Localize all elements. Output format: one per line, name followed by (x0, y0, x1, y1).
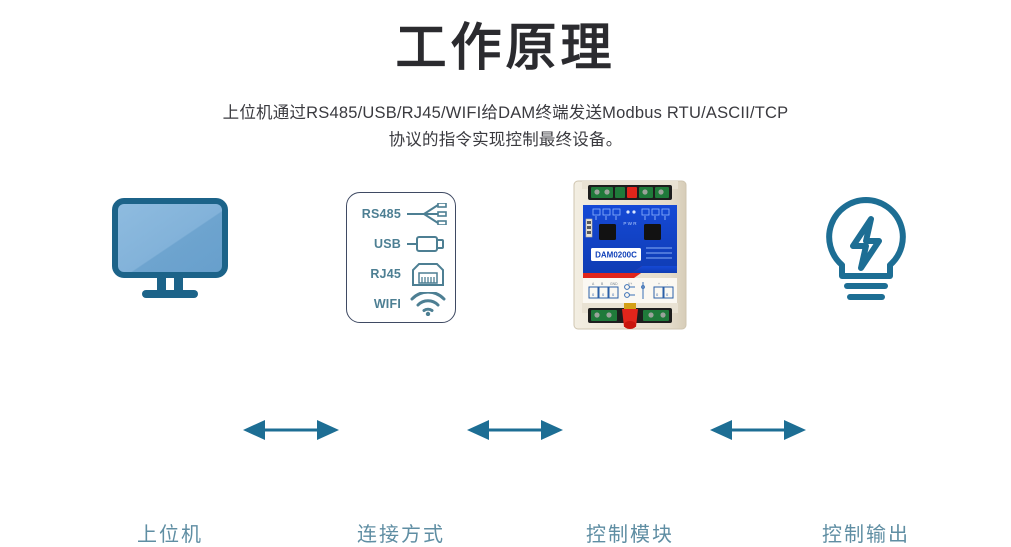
caption-output: 控制输出 (766, 518, 966, 547)
connection-row-usb[interactable]: USB (347, 229, 455, 259)
usb-plug-icon (407, 233, 449, 255)
subtitle-line-1: 上位机通过RS485/USB/RJ45/WIFI给DAM终端发送Modbus R… (0, 100, 1011, 127)
lightbulb-icon (812, 194, 920, 312)
dam-module-icon: P W R DAM0200C (566, 175, 694, 335)
monitor-icon (110, 195, 230, 310)
svg-text:+: + (658, 282, 660, 286)
page-subtitle: 上位机通过RS485/USB/RJ45/WIFI给DAM终端发送Modbus R… (0, 100, 1011, 154)
connection-label-wifi: WIFI (355, 297, 407, 311)
module-panel-mid-mark: P W R (623, 221, 637, 226)
wifi-icon-wrap (407, 291, 451, 317)
connection-methods-card[interactable]: RS485 USB (346, 192, 456, 323)
usb-plug-icon-wrap (407, 231, 451, 257)
arrow-connection-module (467, 417, 563, 443)
caption-connection: 连接方式 (301, 518, 501, 547)
module-model-label: DAM0200C (595, 251, 637, 260)
svg-text:-: - (667, 282, 668, 286)
svg-text:GND: GND (610, 282, 618, 286)
caption-module: 控制模块 (530, 518, 730, 547)
double-arrow-icon (243, 417, 339, 443)
control-module-node: P W R DAM0200C (566, 175, 694, 335)
connection-label-rs485: RS485 (355, 207, 407, 221)
wifi-icon (407, 292, 449, 316)
double-arrow-icon (710, 417, 806, 443)
subtitle-line-2: 协议的指令实现控制最终设备。 (0, 127, 1011, 154)
connection-row-wifi[interactable]: WIFI (347, 289, 455, 319)
arrow-module-output (710, 417, 806, 443)
arrow-host-connection (243, 417, 339, 443)
diagram-stage: 上位机 RS485 (0, 170, 1011, 416)
caption-host: 上位机 (70, 518, 270, 547)
work-principle-infographic: 工作原理 上位机通过RS485/USB/RJ45/WIFI给DAM终端发送Mod… (0, 0, 1011, 416)
host-computer-node (110, 195, 230, 310)
connection-row-rj45[interactable]: RJ45 (347, 259, 455, 289)
double-arrow-icon (467, 417, 563, 443)
page-title: 工作原理 (0, 18, 1011, 78)
connection-label-rj45: RJ45 (355, 267, 407, 281)
ethernet-jack-icon-wrap (407, 261, 451, 287)
serial-bus-icon-wrap (407, 201, 451, 227)
connection-row-rs485[interactable]: RS485 (347, 199, 455, 229)
connection-label-usb: USB (355, 237, 407, 251)
ethernet-jack-icon (407, 261, 449, 287)
control-output-node (812, 194, 920, 312)
serial-bus-icon (407, 203, 449, 225)
